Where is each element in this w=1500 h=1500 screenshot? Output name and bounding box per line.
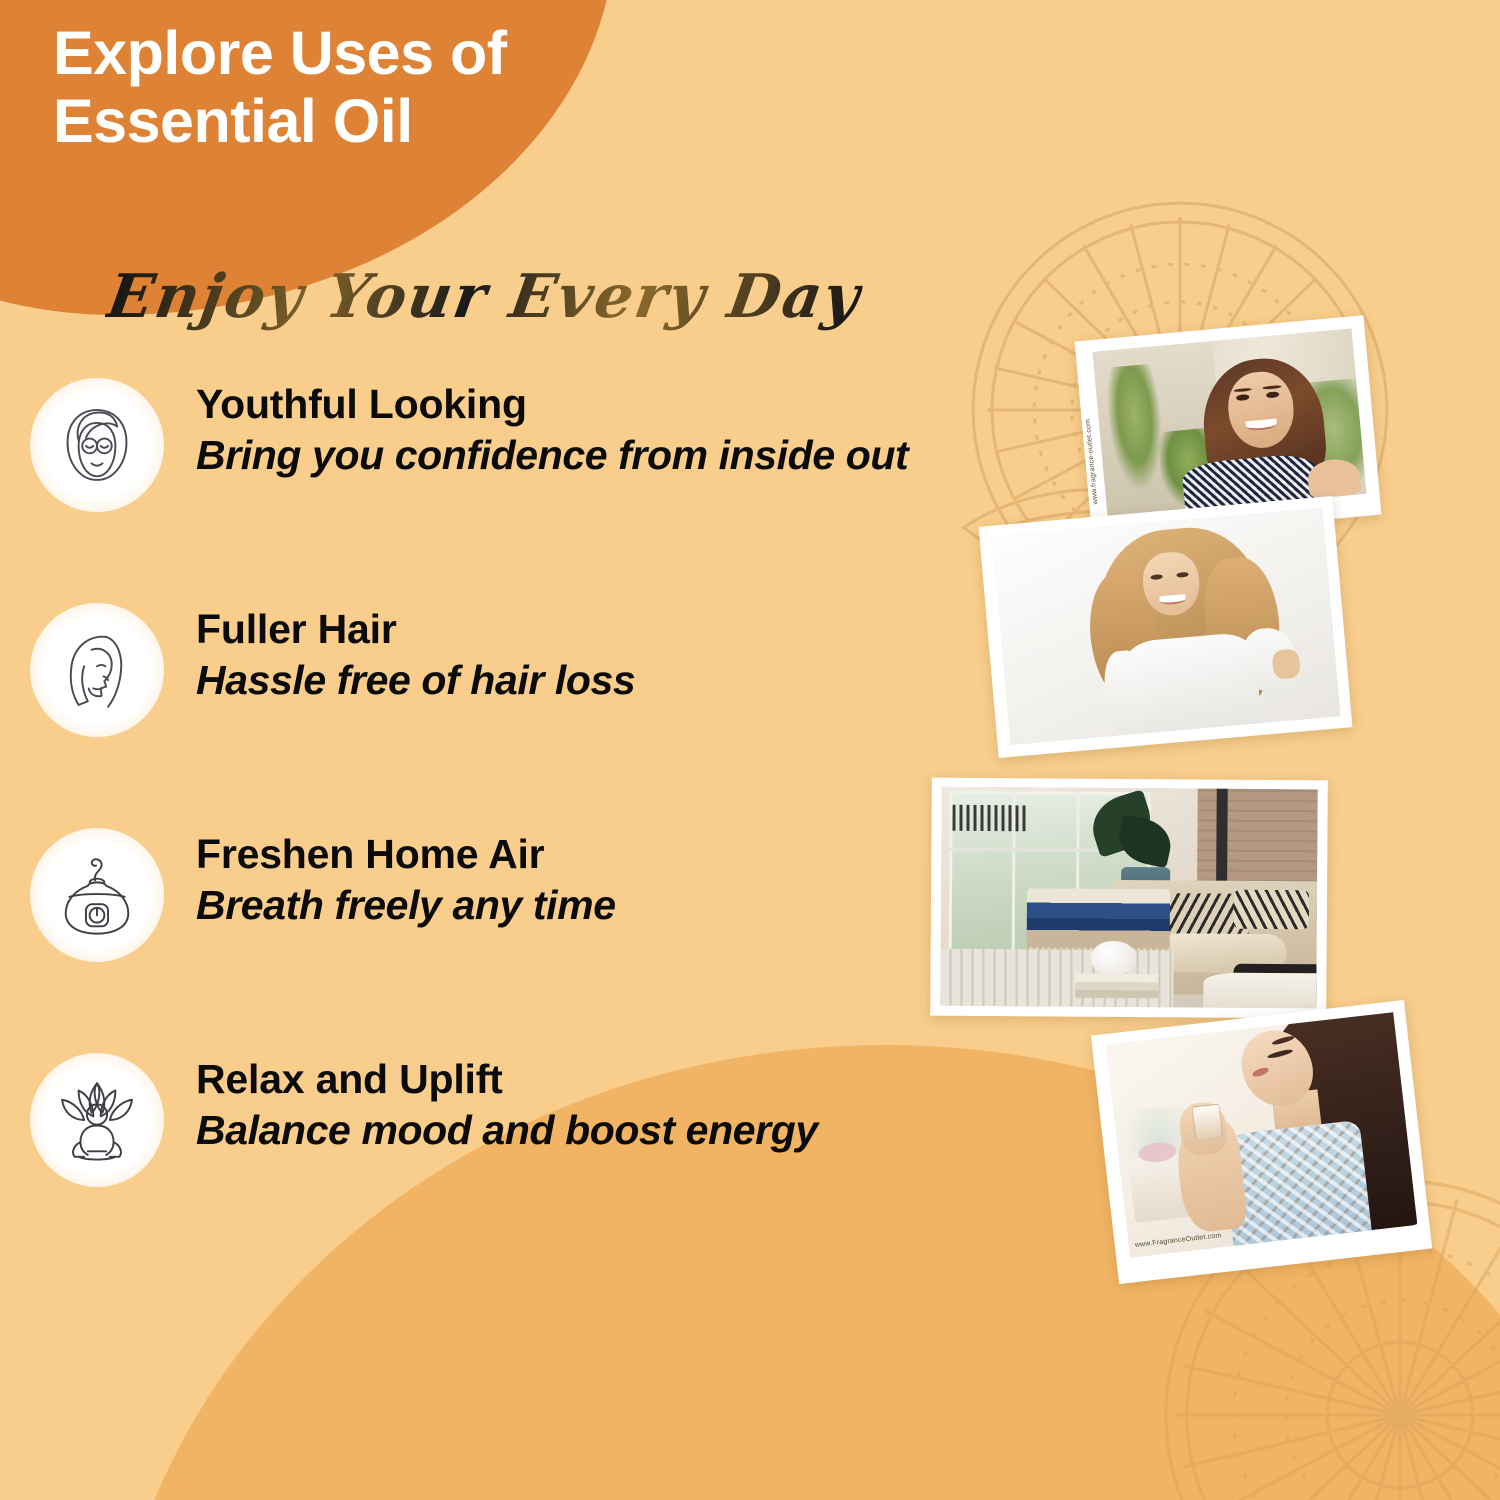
feature-title: Relax and Uplift — [196, 1057, 818, 1103]
feature-subtitle: Breath freely any time — [196, 881, 616, 930]
feature-title: Fuller Hair — [196, 607, 635, 653]
feature-item-freshen-home-air: Freshen Home Air Breath freely any time — [0, 820, 1060, 1045]
feature-text-block: Freshen Home Air Breath freely any time — [196, 820, 616, 930]
feature-title: Freshen Home Air — [196, 832, 616, 878]
feature-item-fuller-hair: Fuller Hair Hassle free of hair loss — [0, 595, 1060, 820]
feature-list: Youthful Looking Bring you confidence fr… — [0, 370, 1060, 1270]
feature-subtitle: Balance mood and boost energy — [196, 1106, 818, 1155]
hair-profile-icon — [38, 611, 156, 729]
feature-item-youthful-looking: Youthful Looking Bring you confidence fr… — [0, 370, 1060, 595]
feature-text-block: Relax and Uplift Balance mood and boost … — [196, 1045, 818, 1155]
lotus-meditation-icon — [38, 1061, 156, 1179]
photo-living-room — [930, 778, 1328, 1019]
face-mask-icon — [38, 386, 156, 504]
photo-image-area — [1106, 1012, 1417, 1257]
photo-perfume-woman: www.FragranceOutlet.com — [1091, 1000, 1432, 1284]
photo-image-area — [992, 508, 1340, 745]
feature-title: Youthful Looking — [196, 382, 908, 428]
tagline: Enjoy Your Every Day — [102, 262, 866, 332]
page-title: Explore Uses of Essential Oil — [53, 20, 653, 155]
feature-text-block: Youthful Looking Bring you confidence fr… — [196, 370, 908, 480]
infographic-canvas: Explore Uses of Essential Oil Enjoy Your… — [0, 0, 1500, 1500]
feature-text-block: Fuller Hair Hassle free of hair loss — [196, 595, 635, 705]
photo-image-area — [940, 787, 1318, 1009]
feature-subtitle: Bring you confidence from inside out — [196, 431, 908, 480]
photo-image-area — [1093, 328, 1367, 517]
photo-long-blonde-hair — [979, 496, 1353, 758]
feature-item-relax-and-uplift: Relax and Uplift Balance mood and boost … — [0, 1045, 1060, 1270]
feature-subtitle: Hassle free of hair loss — [196, 656, 635, 705]
diffuser-icon — [38, 836, 156, 954]
